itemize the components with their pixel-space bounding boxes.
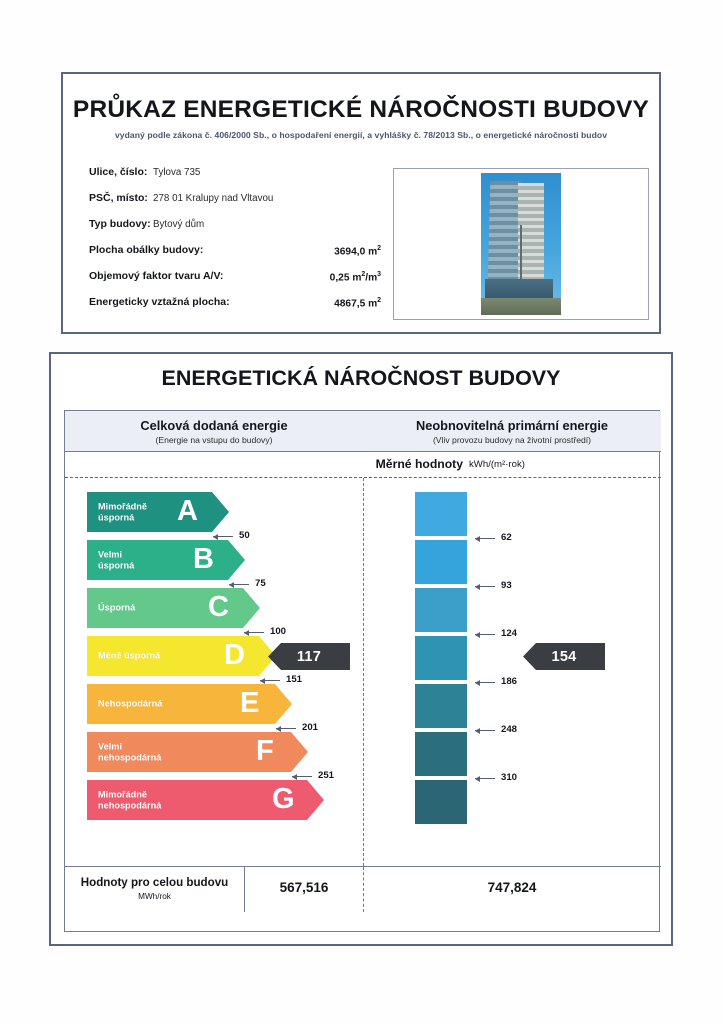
- energy-scale-chart: Mimořádně úspornáA50Velmi úspornáB75Úspo…: [65, 478, 661, 866]
- building-info-table: Ulice, číslo:Tylova 735PSČ, místo:278 01…: [77, 166, 393, 318]
- tick-arrow-icon: [475, 634, 495, 635]
- result-arrow-delivered-energy: 117: [268, 643, 350, 670]
- threshold-value: 310: [501, 772, 517, 783]
- column-subtitle: (Energie na vstupu do budovy): [65, 435, 363, 445]
- threshold-value: 62: [501, 532, 512, 543]
- specific-values-unit: kWh/(m²·rok): [469, 459, 525, 470]
- primary-energy-bar: [415, 780, 467, 824]
- band-letter: A: [177, 495, 198, 528]
- energy-class-band-f: Velmi nehospodárnáF: [87, 732, 308, 772]
- tick-arrow-icon: [475, 778, 495, 779]
- column-title: Celková dodaná energie: [65, 418, 363, 433]
- energy-class-band-g: Mimořádně nehospodárnáG: [87, 780, 324, 820]
- energy-class-band-b: Velmi úspornáB: [87, 540, 245, 580]
- primary-energy-bar: [415, 636, 467, 680]
- energy-table: Celková dodaná energie (Energie na vstup…: [64, 410, 660, 932]
- info-row-value: Bytový dům: [153, 219, 204, 230]
- threshold-value: 93: [501, 580, 512, 591]
- page-title: PRŮKAZ ENERGETICKÉ NÁROČNOSTI BUDOVY: [63, 96, 659, 124]
- primary-energy-bar: [415, 732, 467, 776]
- threshold-value: 124: [501, 628, 517, 639]
- tick-arrow-icon: [213, 536, 233, 537]
- energy-class-band-d: Méně úspornáD: [87, 636, 276, 676]
- band-label: Méně úsporná: [98, 651, 160, 662]
- info-row: Plocha obálky budovy:3694,0 m2: [77, 244, 393, 264]
- energy-panel: ENERGETICKÁ NÁROČNOST BUDOVY PRŮKAZ ENER…: [49, 352, 673, 946]
- primary-energy-bar: [415, 492, 467, 536]
- band-label: Nehospodárná: [98, 699, 162, 710]
- document-legal-subtitle: vydaný podle zákona č. 406/2000 Sb., o h…: [63, 130, 659, 140]
- tick-arrow-icon: [260, 680, 280, 681]
- info-row-label: PSČ, místo:: [89, 192, 148, 204]
- band-label: Mimořádně úsporná: [98, 501, 147, 522]
- whole-building-label: Hodnoty pro celou budovu: [65, 876, 244, 889]
- energy-class-band-e: NehospodárnáE: [87, 684, 292, 724]
- column-divider: [363, 478, 364, 866]
- tick-arrow-icon: [475, 586, 495, 587]
- specific-values-label: Měrné hodnoty: [65, 457, 463, 471]
- energy-class-band-c: ÚspornáC: [87, 588, 260, 628]
- info-row-label: Ulice, číslo:: [89, 166, 147, 178]
- certificate-page: PRŮKAZ ENERGETICKÉ NÁROČNOSTI BUDOVY vyd…: [0, 0, 723, 1024]
- tick-arrow-icon: [229, 584, 249, 585]
- tick-arrow-icon: [292, 776, 312, 777]
- band-label: Úsporná: [98, 603, 135, 614]
- ground-strip: [481, 298, 561, 315]
- info-row: Energeticky vztažná plocha:4867,5 m2: [77, 296, 393, 316]
- band-letter: D: [224, 639, 245, 672]
- column-title: Neobnovitelná primární energie: [363, 418, 661, 433]
- info-row-value: Tylova 735: [153, 167, 200, 178]
- column-header-primary: Neobnovitelná primární energie (Vliv pro…: [363, 411, 661, 452]
- primary-energy-bar: [415, 540, 467, 584]
- column-subtitle: (Vliv provozu budovy na životní prostřed…: [363, 435, 661, 445]
- info-row-label: Typ budovy:: [89, 218, 151, 230]
- result-arrow-primary-energy: 154: [523, 643, 605, 670]
- info-row-value: 278 01 Kralupy nad Vltavou: [153, 193, 273, 204]
- whole-building-row: Hodnoty pro celou budovu MWh/rok 567,516…: [65, 866, 661, 912]
- info-row-value: 4867,5 m2: [291, 297, 381, 309]
- whole-building-primary-value: 747,824: [363, 880, 661, 895]
- building-photo-image: [481, 173, 561, 315]
- info-row: Typ budovy:Bytový dům: [77, 218, 393, 238]
- tick-arrow-icon: [475, 730, 495, 731]
- whole-building-delivered-value: 567,516: [245, 880, 363, 895]
- primary-energy-bar: [415, 684, 467, 728]
- info-row: PSČ, místo:278 01 Kralupy nad Vltavou: [77, 192, 393, 212]
- info-row-value: 3694,0 m2: [291, 245, 381, 257]
- band-letter: F: [256, 735, 274, 768]
- info-row: Ulice, číslo:Tylova 735: [77, 166, 393, 186]
- column-header-delivered: Celková dodaná energie (Energie na vstup…: [65, 411, 363, 452]
- tick-arrow-icon: [244, 632, 264, 633]
- info-row-label: Plocha obálky budovy:: [89, 244, 203, 256]
- info-row-label: Objemový faktor tvaru A/V:: [89, 270, 223, 282]
- tower-ground-floor: [485, 279, 553, 299]
- threshold-value: 186: [501, 676, 517, 687]
- band-letter: B: [193, 543, 214, 576]
- threshold-value: 248: [501, 724, 517, 735]
- header-panel: PRŮKAZ ENERGETICKÉ NÁROČNOSTI BUDOVY vyd…: [61, 72, 661, 334]
- band-label: Mimořádně nehospodárná: [98, 789, 161, 810]
- tower-facade-left: [488, 181, 521, 289]
- info-row: Objemový faktor tvaru A/V:0,25 m2/m3: [77, 270, 393, 290]
- band-letter: E: [240, 687, 259, 720]
- tick-arrow-icon: [276, 728, 296, 729]
- whole-building-unit: MWh/rok: [65, 892, 244, 901]
- band-label: Velmi úsporná: [98, 549, 134, 570]
- energy-class-band-a: Mimořádně úspornáA: [87, 492, 229, 532]
- tick-arrow-icon: [475, 538, 495, 539]
- band-letter: C: [208, 591, 229, 624]
- info-row-value: 0,25 m2/m3: [291, 271, 381, 283]
- specific-values-row: Měrné hodnoty kWh/(m²·rok): [65, 452, 661, 478]
- info-row-label: Energeticky vztažná plocha:: [89, 296, 230, 308]
- section-title: ENERGETICKÁ NÁROČNOST BUDOVY: [51, 366, 671, 391]
- band-letter: G: [272, 783, 295, 816]
- building-photo: [393, 168, 649, 320]
- band-label: Velmi nehospodárná: [98, 741, 161, 762]
- primary-energy-bar: [415, 588, 467, 632]
- tick-arrow-icon: [475, 682, 495, 683]
- whole-building-label-cell: Hodnoty pro celou budovu MWh/rok: [65, 867, 245, 912]
